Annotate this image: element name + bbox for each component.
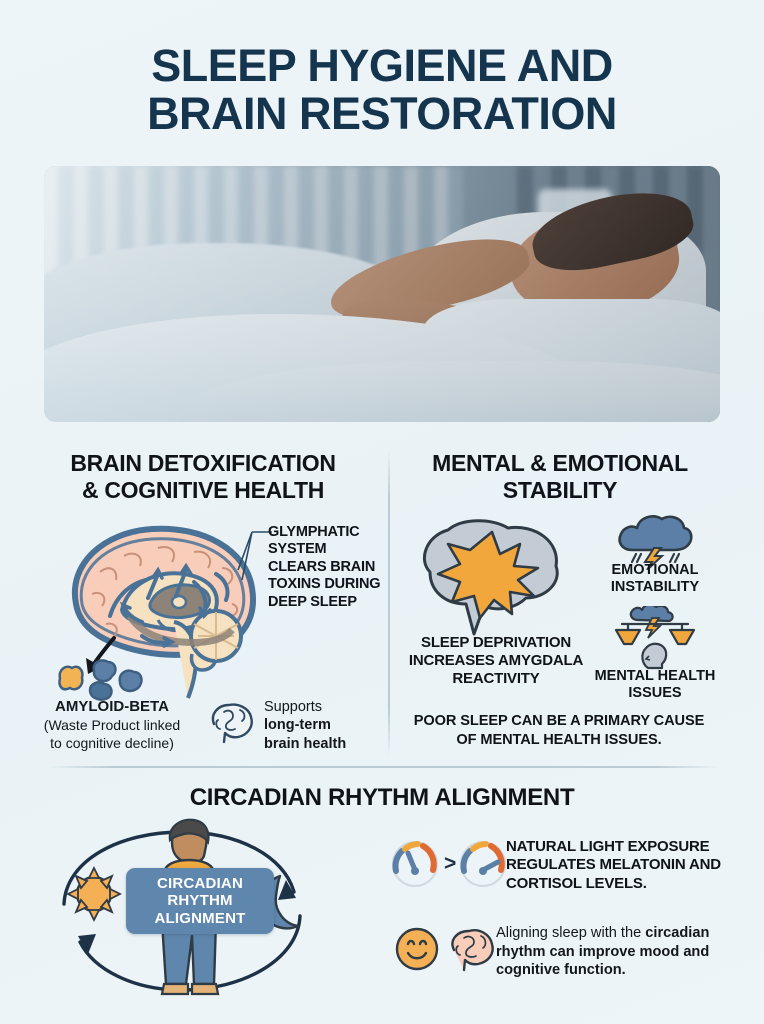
supports-brain-health-caption: Supports long-term brain health <box>264 698 388 753</box>
emotional-instability-label: EMOTIONAL INSTABILITY <box>586 562 724 597</box>
amyloid-beta-plaques <box>59 660 141 699</box>
section-heading-mental-emotional: MENTAL & EMOTIONAL STABILITY <box>398 450 722 503</box>
cerebellum <box>191 611 241 661</box>
sleep-deprivation-label: SLEEP DEPRIVATION INCREASES AMYGDALA REA… <box>398 634 594 688</box>
infographic-poster: SLEEP HYGIENE AND BRAIN RESTORATION BRAI… <box>0 0 764 1024</box>
amyloid-sub-1: (Waste Product linked <box>22 717 202 735</box>
supports-reg: Supports <box>264 699 322 715</box>
amyloid-title: AMYLOID-BETA <box>22 698 202 717</box>
brain-outline-icon <box>204 700 258 746</box>
circadian-rhythm-alignment-badge: CIRCADIAN RHYTHM ALIGNMENT <box>126 868 274 934</box>
supports-bold-2: brain health <box>264 736 346 752</box>
heading-line-1: BRAIN DETOXIFICATION <box>70 450 335 476</box>
heading-line-2: & COGNITIVE HEALTH <box>82 477 324 503</box>
natural-light-label: NATURAL LIGHT EXPOSURE REGULATES MELATON… <box>506 838 734 893</box>
section-heading-circadian-rhythm: CIRCADIAN RHYTHM ALIGNMENT <box>0 784 764 812</box>
horizontal-divider <box>46 766 720 768</box>
glymphatic-system-label: GLYMPHATIC SYSTEM CLEARS BRAIN TOXINS DU… <box>268 524 388 611</box>
title-line-1: SLEEP HYGIENE AND <box>0 42 764 90</box>
badge-line-2: RHYTHM <box>167 892 232 909</box>
badge-line-3: ALIGNMENT <box>155 910 246 927</box>
hero-photo-sleeping-woman <box>44 166 720 422</box>
mental-health-issues-label: MENTAL HEALTH ISSUES <box>586 668 724 703</box>
gauge-high-icon <box>456 840 510 888</box>
aligning-regular: Aligning sleep with the <box>496 925 645 941</box>
photo-color-grade <box>44 166 720 422</box>
aligning-sleep-caption: Aligning sleep with the circadian rhythm… <box>496 924 726 980</box>
sun-icon <box>68 868 120 920</box>
conclusion-line-2: OF MENTAL HEALTH ISSUES. <box>456 732 661 748</box>
poor-sleep-conclusion: POOR SLEEP CAN BE A PRIMARY CAUSE OF MEN… <box>394 712 724 750</box>
amyloid-sub-2: to cognitive decline) <box>22 735 202 753</box>
gauge-comparator: > <box>444 852 456 876</box>
mental-health-scales-icon <box>608 606 704 670</box>
vertical-divider <box>388 450 390 756</box>
brain-pink-icon <box>444 926 496 972</box>
page-title: SLEEP HYGIENE AND BRAIN RESTORATION <box>0 42 764 137</box>
supports-bold-1: long-term <box>264 717 331 733</box>
title-line-2: BRAIN RESTORATION <box>0 90 764 138</box>
smiley-face-icon <box>394 926 440 972</box>
heading-line-1: MENTAL & EMOTIONAL <box>432 450 688 476</box>
badge-line-1: CIRCADIAN <box>157 875 243 892</box>
section-heading-brain-detoxification: BRAIN DETOXIFICATION & COGNITIVE HEALTH <box>30 450 376 503</box>
heading-line-2: STABILITY <box>503 477 617 503</box>
amyloid-beta-caption: AMYLOID-BETA (Waste Product linked to co… <box>22 698 202 752</box>
gauge-low-icon <box>388 840 442 888</box>
conclusion-line-1: POOR SLEEP CAN BE A PRIMARY CAUSE <box>414 713 705 729</box>
amygdala-reactivity-icon <box>404 516 580 640</box>
